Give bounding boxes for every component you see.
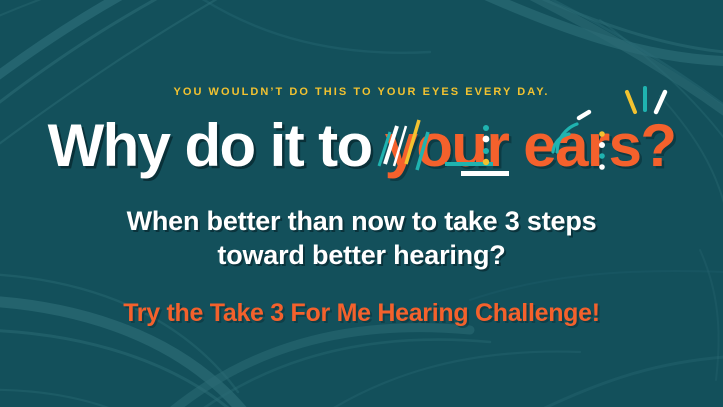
subheading: When better than now to take 3 steps tow… — [127, 204, 597, 272]
burst-accent-lines — [627, 88, 665, 112]
banner-content: YOU WOULDN’T DO THIS TO YOUR EYES EVERY … — [0, 0, 723, 407]
hearing-challenge-banner: YOU WOULDN’T DO THIS TO YOUR EYES EVERY … — [0, 0, 723, 407]
subheading-line-1: When better than now to take 3 steps — [127, 206, 597, 236]
headline-orange-segment: your ears? — [385, 116, 676, 176]
subheading-line-2: toward better hearing? — [127, 238, 597, 272]
eyebrow-text: YOU WOULDN’T DO THIS TO YOUR EYES EVERY … — [173, 86, 549, 98]
headline-white-segment: Why do it to — [48, 116, 372, 176]
cta-text[interactable]: Try the Take 3 For Me Hearing Challenge! — [123, 299, 600, 328]
page-title: Why do it to your ears? — [48, 116, 676, 176]
